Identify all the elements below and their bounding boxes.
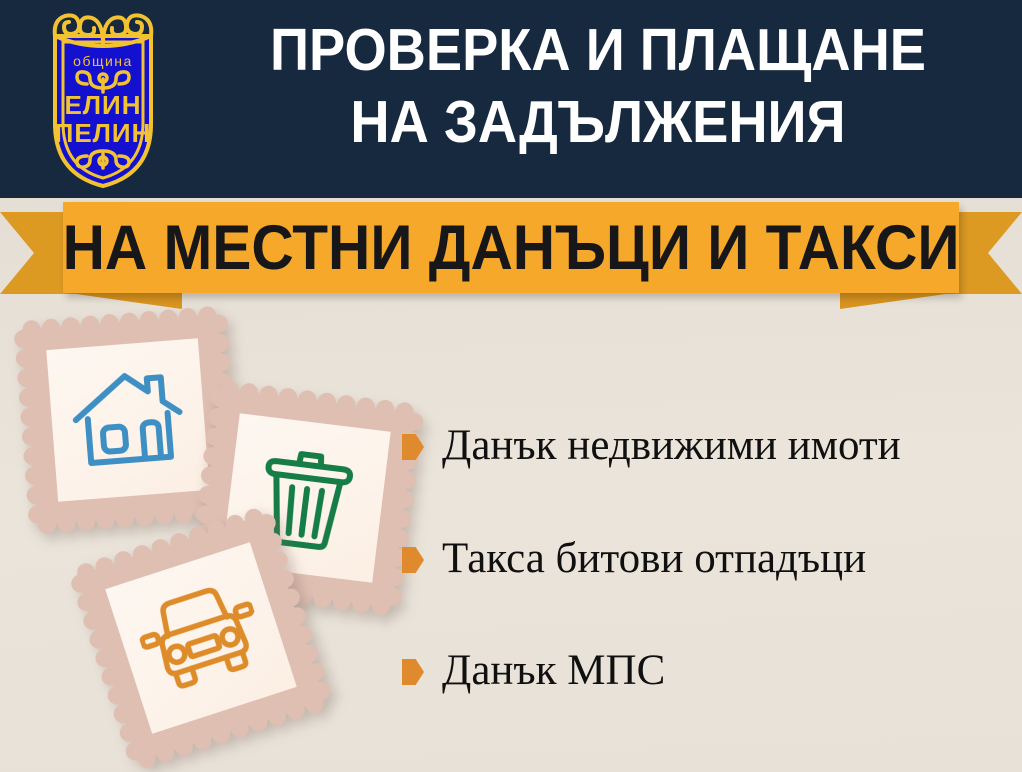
- ribbon-banner: НА МЕСТНИ ДАНЪЦИ И ТАКСИ: [0, 196, 1022, 311]
- list-item[interactable]: Данък МПС: [402, 647, 665, 695]
- arrow-bullet-icon: [402, 434, 424, 460]
- house-icon: [68, 364, 188, 476]
- poster-canvas: община ЕЛИН ПЕЛИН ПРОВЕРКА И: [0, 0, 1022, 772]
- list-item-label: Данък МПС: [442, 647, 665, 695]
- stamp-inner-house: [46, 338, 209, 501]
- municipality-logo: община ЕЛИН ПЕЛИН: [33, 6, 173, 191]
- list-item-label: Такса битови отпадъци: [442, 535, 866, 583]
- logo-line1: ЕЛИН: [64, 90, 141, 120]
- ribbon-fold-right: [840, 292, 960, 309]
- page-title: ПРОВЕРКА И ПЛАЩАНЕ НА ЗАДЪЛЖЕНИЯ: [219, 14, 977, 158]
- car-icon: [130, 574, 272, 702]
- arrow-bullet-icon: [402, 659, 424, 685]
- ribbon-label: НА МЕСТНИ ДАНЪЦИ И ТАКСИ: [94, 202, 927, 293]
- list-item[interactable]: Данък недвижими имоти: [402, 422, 901, 470]
- coat-of-arms-icon: община ЕЛИН ПЕЛИН: [33, 6, 173, 191]
- ribbon-fold-left: [62, 292, 182, 309]
- arrow-bullet-icon: [402, 547, 424, 573]
- logo-top-word: община: [73, 53, 133, 69]
- list-item[interactable]: Такса битови отпадъци: [402, 535, 866, 583]
- header-bar: община ЕЛИН ПЕЛИН ПРОВЕРКА И: [0, 0, 1022, 198]
- ribbon-band: НА МЕСТНИ ДАНЪЦИ И ТАКСИ: [63, 202, 959, 293]
- list-item-label: Данък недвижими имоти: [442, 422, 901, 470]
- logo-line2: ПЕЛИН: [55, 118, 152, 148]
